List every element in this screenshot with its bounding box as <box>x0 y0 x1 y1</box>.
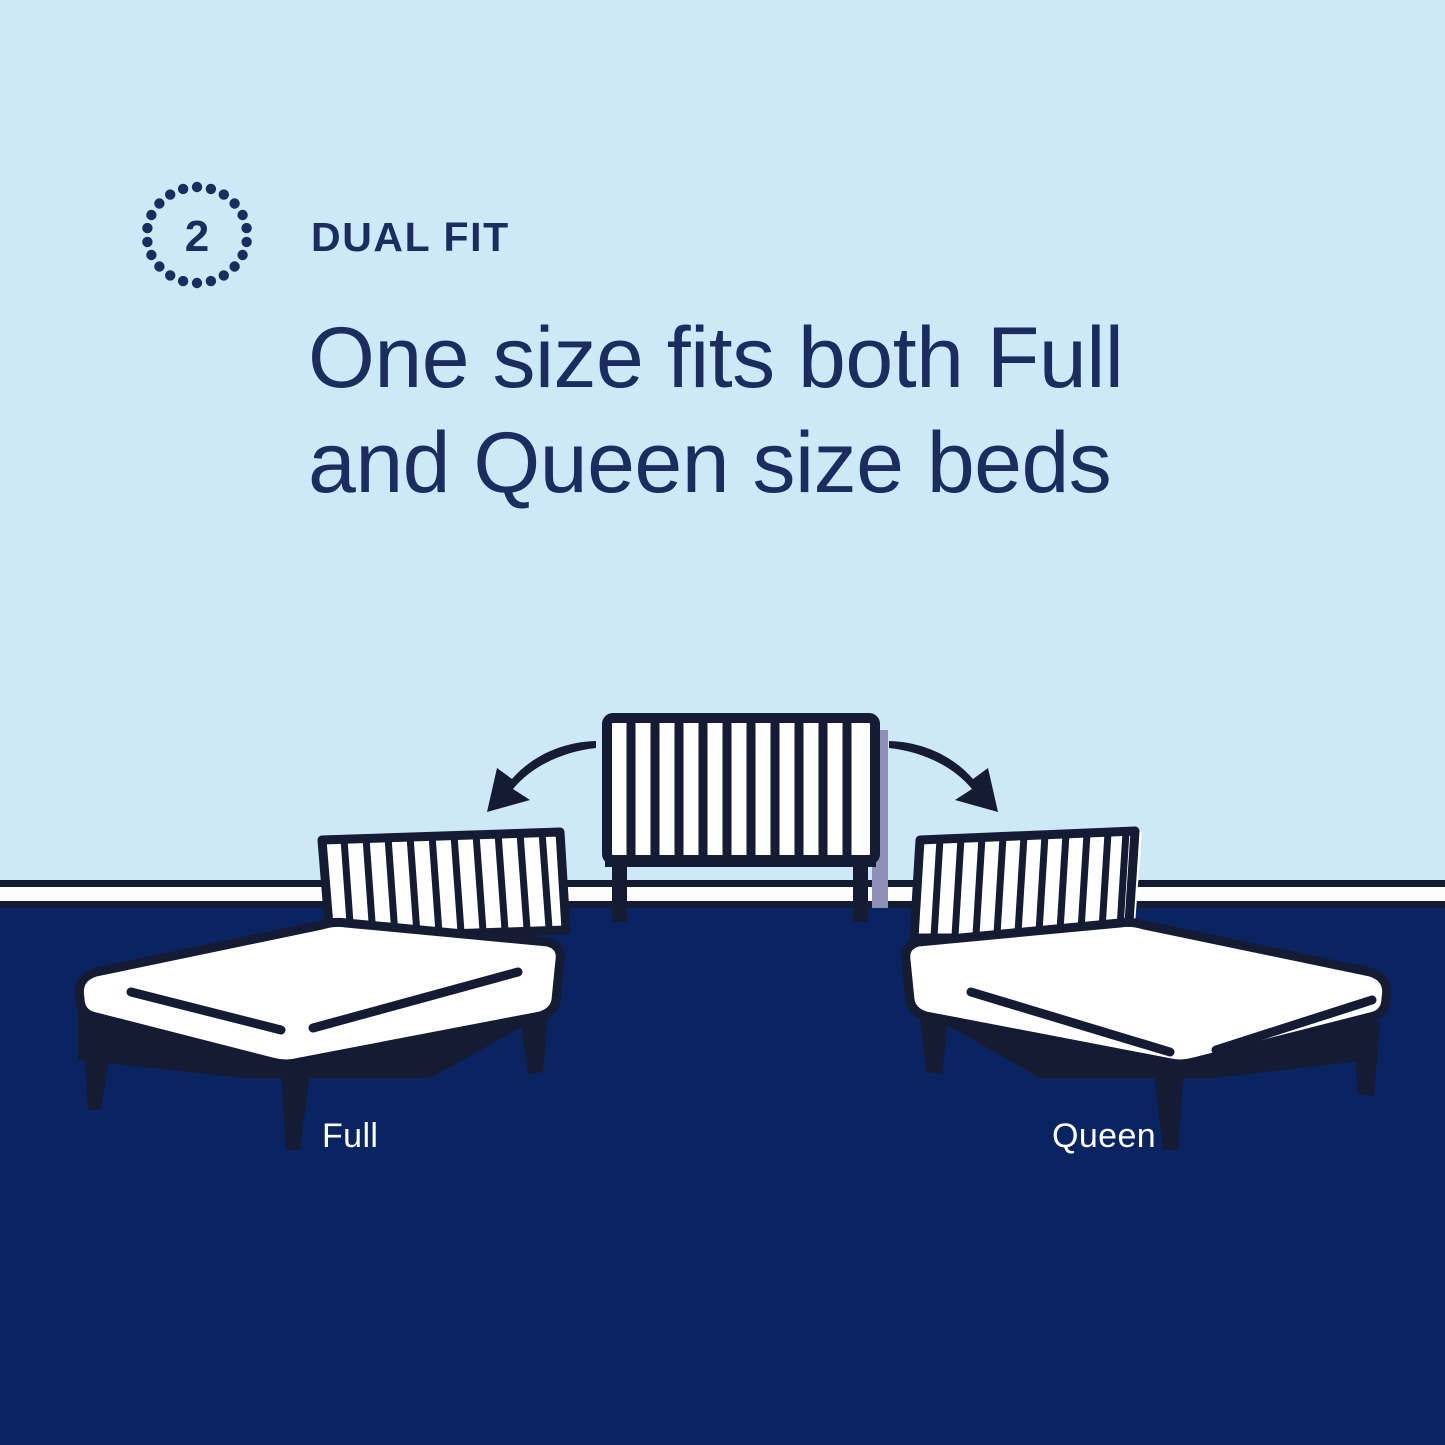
beds-illustration <box>0 0 1445 1445</box>
bed-full <box>78 832 566 1150</box>
standalone-headboard <box>605 718 888 922</box>
bed-queen-leg-front-left <box>1154 1072 1184 1150</box>
headboard-leg-right <box>853 860 868 922</box>
arrow-right <box>889 741 998 812</box>
arrow-left-shape <box>487 741 596 812</box>
bed-queen-leg-back-left <box>920 1016 948 1074</box>
bed-queen-leg-front-right <box>1352 1018 1380 1096</box>
headboard-panel <box>607 718 875 860</box>
arrow-left <box>487 741 596 812</box>
bed-label-full: Full <box>322 1117 378 1156</box>
infographic-canvas: 2 DUAL FIT One size fits both Full and Q… <box>0 0 1445 1445</box>
illustration-scene <box>0 0 1445 1445</box>
arrow-right-shape <box>889 741 998 812</box>
bed-queen <box>906 831 1387 1150</box>
headboard-leg-left <box>612 860 627 922</box>
bed-full-leg-back-right <box>520 1016 548 1074</box>
bed-full-leg-front-left <box>84 1052 110 1110</box>
badge-number: 2 <box>185 215 209 259</box>
bed-label-queen: Queen <box>1052 1117 1156 1156</box>
bed-full-leg-front-right <box>281 1072 310 1150</box>
